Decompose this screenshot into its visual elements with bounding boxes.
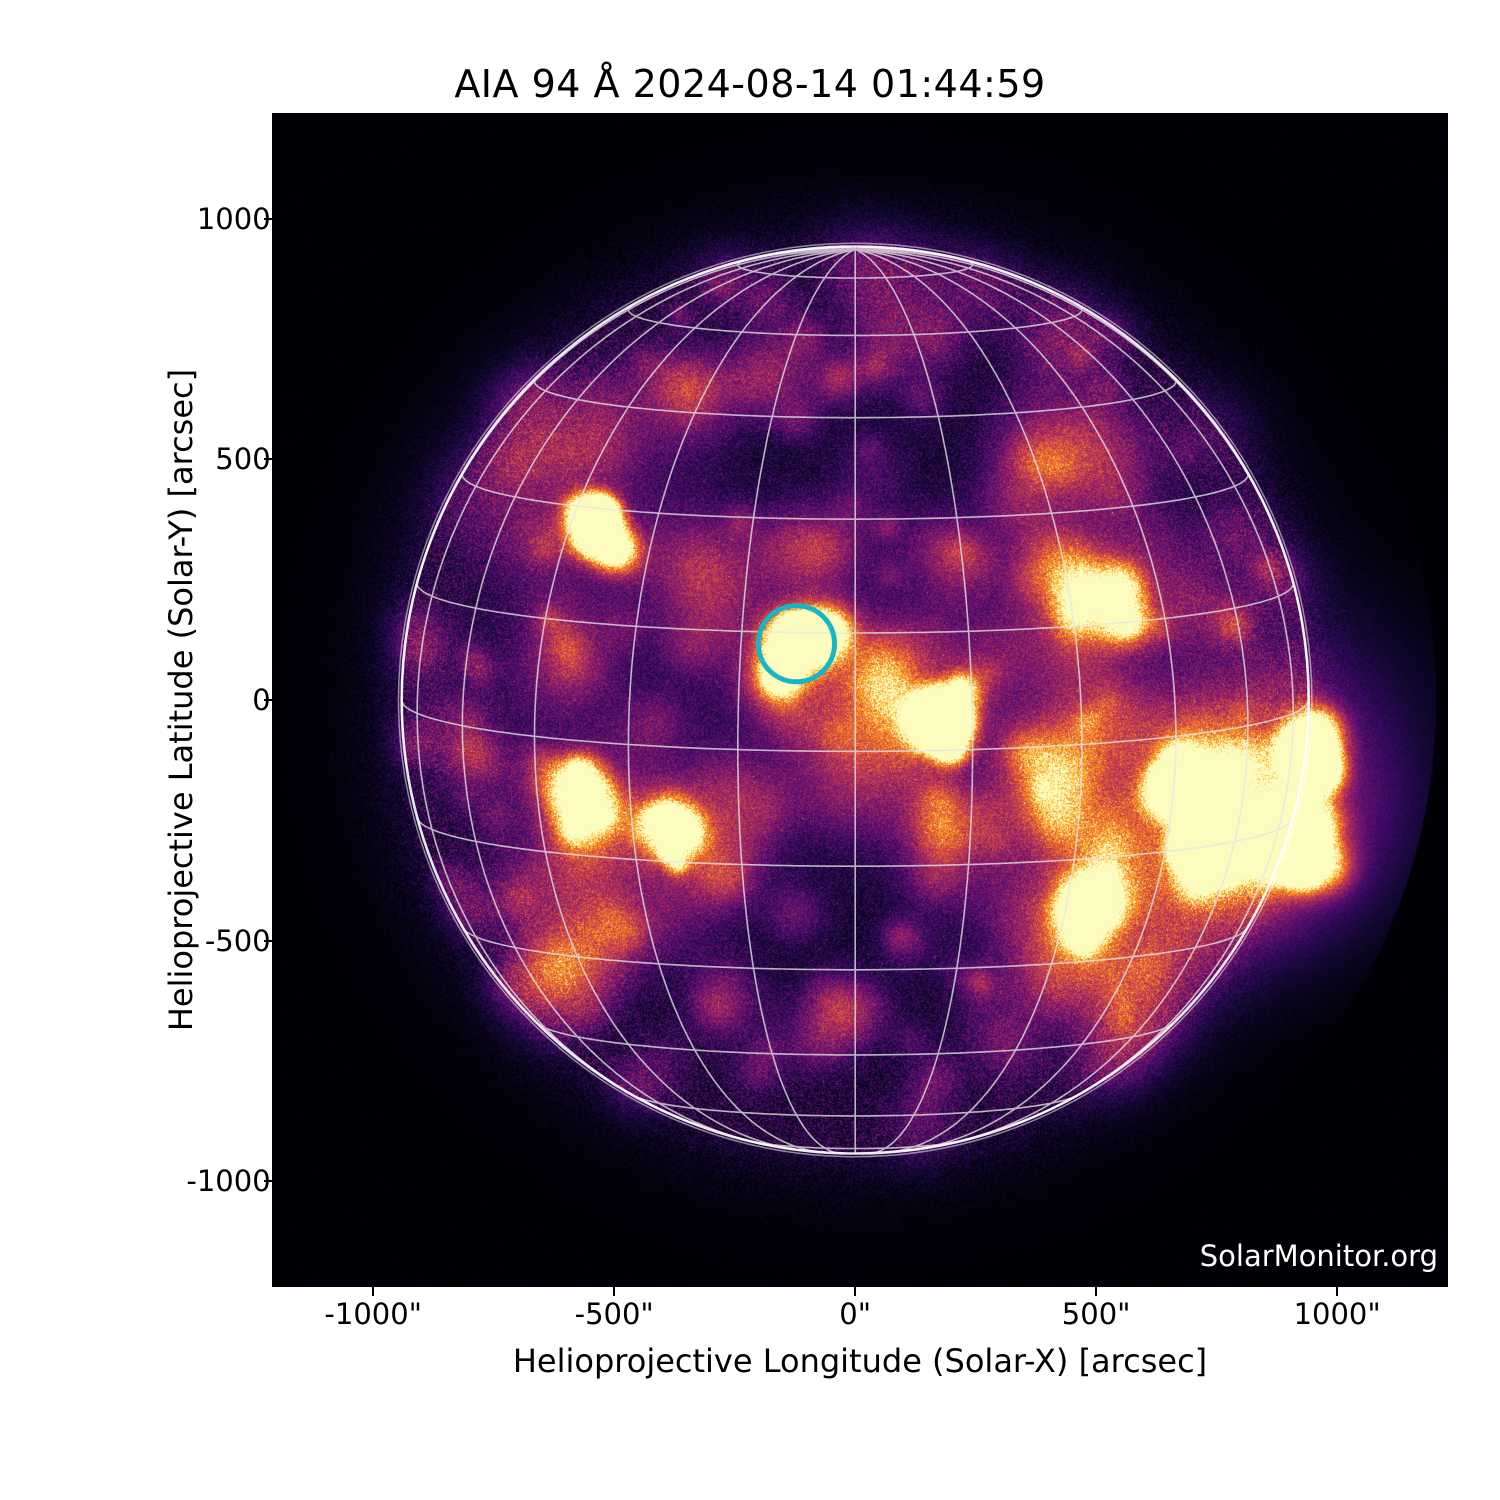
grid-meridian bbox=[855, 249, 972, 1153]
grid-meridian bbox=[417, 249, 855, 1125]
x-tick-label: 0" bbox=[839, 1297, 871, 1331]
x-tick-mark bbox=[854, 1287, 856, 1296]
x-axis-label: Helioprojective Longitude (Solar-X) [arc… bbox=[272, 1342, 1448, 1380]
solarmonitor-watermark: SolarMonitor.org bbox=[1200, 1239, 1438, 1273]
y-axis-label: Helioprojective Latitude (Solar-Y) [arcs… bbox=[162, 113, 208, 1287]
solar-disk-plot-area[interactable]: SolarMonitor.org bbox=[272, 113, 1448, 1287]
grid-meridian bbox=[402, 249, 856, 770]
grid-meridian bbox=[738, 249, 855, 1153]
heliographic-grid bbox=[402, 247, 1309, 1154]
x-tick-label: -500" bbox=[575, 1297, 654, 1331]
grid-meridian bbox=[855, 249, 1082, 1152]
grid-meridian bbox=[855, 249, 1293, 1125]
grid-meridian bbox=[855, 249, 1308, 770]
y-tick-label: 1000" bbox=[197, 202, 284, 236]
heliographic-grid-overlay bbox=[272, 113, 1448, 1287]
active-region-marker-circle[interactable] bbox=[758, 606, 834, 682]
x-tick-mark bbox=[372, 1287, 374, 1296]
grid-meridian bbox=[628, 249, 855, 1152]
x-tick-mark bbox=[1095, 1287, 1097, 1296]
grid-meridian bbox=[535, 249, 856, 1150]
x-tick-mark bbox=[1336, 1287, 1338, 1296]
grid-meridian bbox=[855, 249, 1176, 1150]
x-tick-mark bbox=[613, 1287, 615, 1296]
page-title: AIA 94 Å 2024-08-14 01:44:59 bbox=[0, 62, 1500, 106]
solar-image-figure: AIA 94 Å 2024-08-14 01:44:59 -1000"-500"… bbox=[0, 0, 1500, 1500]
x-tick-label: 1000" bbox=[1294, 1297, 1381, 1331]
x-tick-label: 500" bbox=[1062, 1297, 1131, 1331]
x-tick-label: -1000" bbox=[324, 1297, 422, 1331]
